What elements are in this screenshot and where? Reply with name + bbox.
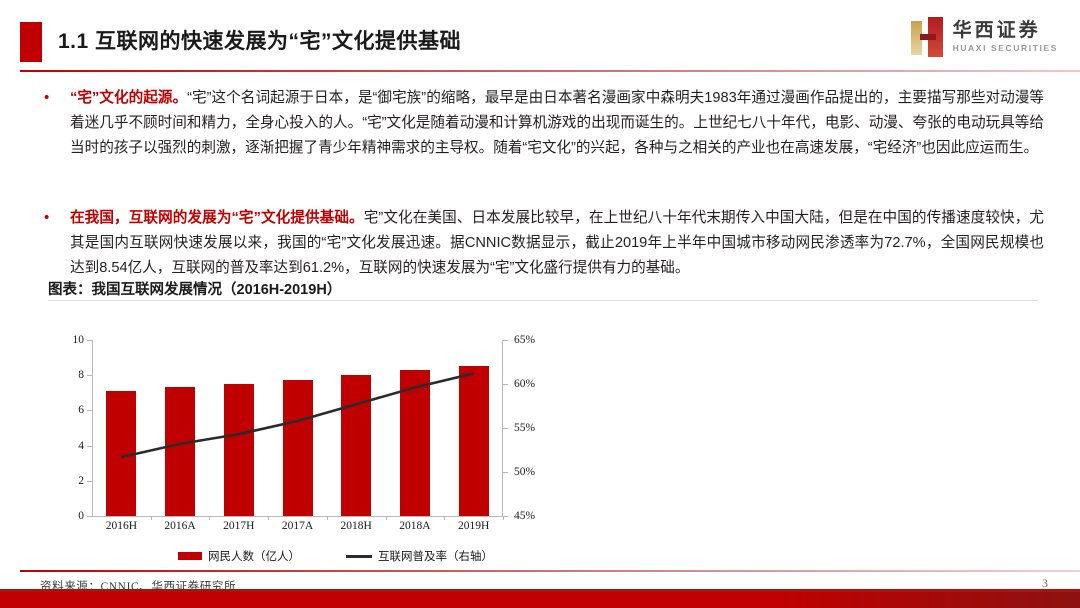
y-tick-label-left: 6 — [54, 404, 84, 416]
logo-mark-icon — [911, 17, 945, 57]
x-tick-label: 2019H — [443, 520, 505, 532]
huaxi-logo: 华西证券 HUAXI SECURITIES — [911, 14, 1058, 60]
bullet-dot-icon: • — [44, 90, 49, 105]
legend-item-line: 互联网普及率（右轴） — [346, 548, 493, 564]
footer-divider — [20, 570, 1080, 572]
y-tick-right — [503, 340, 508, 341]
legend-label-bars: 网民人数（亿人） — [208, 548, 300, 564]
penetration-rate-line — [92, 340, 503, 516]
y-tick-label-left: 4 — [54, 440, 84, 452]
y-tick-label-left: 8 — [54, 369, 84, 381]
y-tick-right — [503, 428, 508, 429]
header-divider — [20, 70, 1080, 72]
legend-bar-swatch — [178, 552, 202, 560]
bullet-1-body: “宅”这个名词起源于日本，是“御宅族”的缩略，最早是由日本著名漫画家中森明夫19… — [70, 90, 1044, 156]
y-tick-label-left: 2 — [54, 475, 84, 487]
legend-item-bars: 网民人数（亿人） — [178, 548, 300, 564]
logo-text-cn: 华西证券 — [953, 21, 1058, 41]
y-tick-right — [503, 472, 508, 473]
x-tick-label: 2017A — [267, 520, 329, 532]
y-tick-right — [503, 384, 508, 385]
title-accent-bar — [20, 22, 42, 62]
x-axis — [92, 516, 503, 517]
bullet-paragraph-1: • “宅”文化的起源。“宅”这个名词起源于日本，是“御宅族”的缩略，最早是由日本… — [44, 86, 1044, 161]
x-tick-label: 2016H — [90, 520, 152, 532]
slide: 1.1 互联网的快速发展为“宅”文化提供基础 华西证券 HUAXI SECURI… — [0, 0, 1080, 608]
y-tick-label-right: 55% — [514, 422, 554, 434]
legend-label-line: 互联网普及率（右轴） — [378, 548, 493, 564]
y-tick-label-left: 0 — [54, 510, 84, 522]
y-tick-label-right: 50% — [514, 466, 554, 478]
y-tick-label-right: 65% — [514, 334, 554, 346]
page-title: 1.1 互联网的快速发展为“宅”文化提供基础 — [58, 25, 461, 55]
bullet-dot-icon: • — [44, 210, 49, 225]
internet-development-chart: 024681045%50%55%60%65%2016H2016A2017H201… — [48, 320, 568, 560]
y-tick-label-left: 10 — [54, 334, 84, 346]
bullet-paragraph-2: • 在我国，互联网的发展为“宅”文化提供基础。宅”文化在美国、日本发展比较早，在… — [44, 206, 1044, 281]
x-tick-label: 2018A — [384, 520, 446, 532]
y-tick-label-right: 60% — [514, 378, 554, 390]
legend-line-swatch — [346, 555, 372, 558]
bullet-1-lead: “宅”文化的起源。 — [70, 90, 187, 106]
x-tick-label: 2016A — [149, 520, 211, 532]
chart-title: 图表：我国互联网发展情况（2016H-2019H） — [48, 278, 341, 299]
x-tick-label: 2018H — [325, 520, 387, 532]
chart-title-divider — [48, 300, 1038, 301]
chart-legend: 网民人数（亿人） 互联网普及率（右轴） — [178, 548, 493, 564]
y-tick-label-right: 45% — [514, 510, 554, 522]
y-tick-left — [87, 516, 92, 517]
logo-text-en: HUAXI SECURITIES — [953, 43, 1058, 53]
bullet-2-lead: 在我国，互联网的发展为“宅”文化提供基础。 — [70, 210, 364, 226]
x-tick-label: 2017H — [208, 520, 270, 532]
footer-band — [0, 592, 1080, 608]
